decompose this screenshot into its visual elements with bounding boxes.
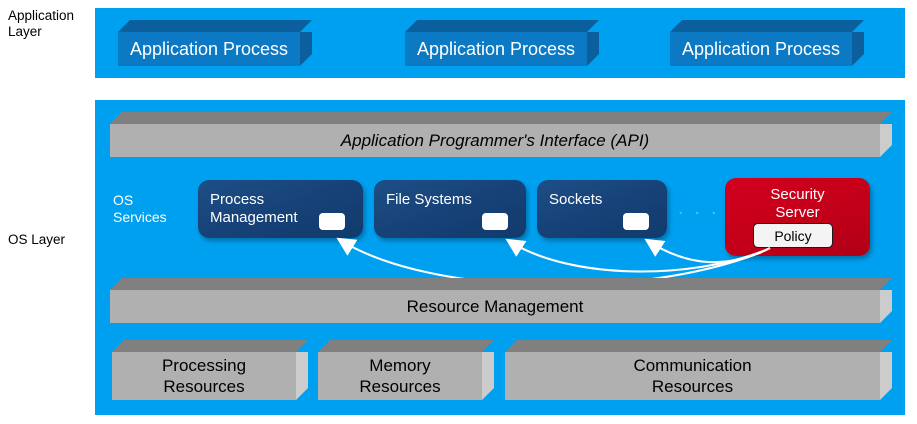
box-front-face: Application Process [670,32,852,66]
service-label: Process Management [210,191,298,227]
box-side-face [880,352,892,400]
box-side-face [300,32,312,66]
resource-box-memory: Memory Resources [318,340,494,400]
box-front-face: Communication Resources [505,352,880,400]
application-process-box-3: Application Process [670,20,864,66]
os-services-label: OS Services [113,192,167,226]
policy-box[interactable]: Policy [753,223,833,248]
box-side-face [852,32,864,66]
application-layer-label: Application Layer [8,8,74,40]
service-label: File Systems [386,191,472,209]
service-box-sockets[interactable]: Sockets [537,180,667,238]
service-label: Sockets [549,191,602,209]
resource-box-communication: Communication Resources [505,340,892,400]
box-front-face: Memory Resources [318,352,482,400]
box-side-face [880,124,892,157]
box-front-face: Application Programmer's Interface (API) [110,124,880,157]
policy-hook-icon [482,213,508,230]
api-bar: Application Programmer's Interface (API) [110,112,892,157]
box-front-face: Processing Resources [112,352,296,400]
box-front-face: Resource Management [110,290,880,323]
resource-label: Communication Resources [633,355,751,397]
ellipsis-more-services: . . . [678,198,719,220]
service-box-process-management[interactable]: Process Management [198,180,363,238]
box-top-face [318,340,494,352]
application-process-label: Application Process [682,39,840,60]
os-layer-label: OS Layer [8,232,65,248]
security-server-label: Security Server [725,186,870,222]
box-top-face [505,340,892,352]
box-top-face [118,20,312,32]
box-front-face: Application Process [405,32,587,66]
policy-hook-icon [623,213,649,230]
application-process-box-1: Application Process [118,20,312,66]
box-top-face [670,20,864,32]
resource-box-processing: Processing Resources [112,340,308,400]
box-side-face [296,352,308,400]
api-bar-label: Application Programmer's Interface (API) [341,130,649,151]
resource-label: Memory Resources [359,355,440,397]
box-side-face [880,290,892,323]
application-process-label: Application Process [130,39,288,60]
box-top-face [405,20,599,32]
box-side-face [482,352,494,400]
diagram-canvas: Application Layer OS Layer Application P… [0,0,917,424]
service-box-file-systems[interactable]: File Systems [374,180,526,238]
application-process-box-2: Application Process [405,20,599,66]
resource-label: Processing Resources [162,355,246,397]
security-server-box[interactable]: Security Server Policy [725,178,870,256]
box-top-face [110,112,892,124]
resource-management-label: Resource Management [407,296,584,317]
resource-management-bar: Resource Management [110,278,892,323]
box-front-face: Application Process [118,32,300,66]
box-top-face [110,278,892,290]
box-side-face [587,32,599,66]
box-top-face [112,340,308,352]
application-process-label: Application Process [417,39,575,60]
policy-hook-icon [319,213,345,230]
